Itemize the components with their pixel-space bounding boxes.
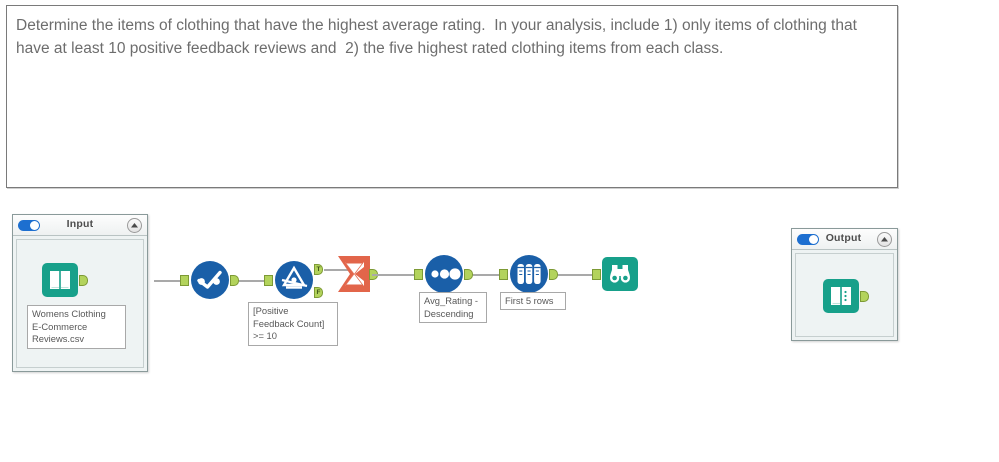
output-data-input-port[interactable] bbox=[860, 291, 869, 302]
output-container-title: Output bbox=[808, 232, 879, 244]
book-icon bbox=[822, 277, 860, 315]
node-sample[interactable] bbox=[499, 254, 559, 296]
browse-input-port[interactable] bbox=[592, 269, 601, 280]
filter-icon bbox=[274, 260, 314, 300]
prompt-textbox[interactable]: Determine the items of clothing that hav… bbox=[6, 5, 898, 188]
wire-summarize-to-sort bbox=[372, 274, 416, 276]
test-tubes-icon bbox=[509, 254, 549, 294]
select-input-port[interactable] bbox=[180, 275, 189, 286]
filter-input-port[interactable] bbox=[264, 275, 273, 286]
chevron-up-icon[interactable] bbox=[127, 218, 142, 233]
input-data-output-port[interactable] bbox=[79, 275, 88, 286]
wire-select-to-filter bbox=[239, 280, 266, 282]
wire-sample-to-browse bbox=[558, 274, 596, 276]
chevron-up-glyph bbox=[880, 236, 889, 243]
filter-false-label: F bbox=[315, 287, 322, 298]
wire-input-to-select bbox=[154, 280, 181, 282]
sort-annotation: Avg_Rating - Descending bbox=[419, 292, 487, 323]
sort-output-port[interactable] bbox=[464, 269, 473, 280]
node-browse[interactable] bbox=[592, 254, 644, 296]
sample-input-port[interactable] bbox=[499, 269, 508, 280]
select-output-port[interactable] bbox=[230, 275, 239, 286]
node-summarize[interactable] bbox=[324, 250, 386, 294]
filter-false-port[interactable]: F bbox=[314, 287, 323, 298]
sort-input-port[interactable] bbox=[414, 269, 423, 280]
input-container[interactable]: Input Womens Clothing E-Commerce Reviews… bbox=[12, 214, 148, 372]
sample-annotation: First 5 rows bbox=[500, 292, 566, 310]
node-output-data[interactable] bbox=[822, 277, 874, 315]
sort-dots-icon bbox=[424, 254, 464, 294]
workflow-canvas[interactable]: Input Womens Clothing E-Commerce Reviews… bbox=[0, 196, 999, 462]
sigma-icon bbox=[334, 254, 374, 294]
output-container[interactable]: Output bbox=[791, 228, 898, 341]
node-sort[interactable] bbox=[414, 254, 474, 296]
node-select[interactable] bbox=[180, 260, 240, 302]
select-icon bbox=[190, 260, 230, 300]
filter-annotation: [Positive Feedback Count] >= 10 bbox=[248, 302, 338, 346]
chevron-up-glyph bbox=[130, 222, 139, 229]
input-annotation: Womens Clothing E-Commerce Reviews.csv bbox=[27, 305, 126, 349]
book-icon bbox=[41, 261, 79, 299]
node-input-data[interactable] bbox=[41, 261, 93, 299]
output-container-header: Output bbox=[792, 229, 897, 250]
chevron-up-icon[interactable] bbox=[877, 232, 892, 247]
input-container-header: Input bbox=[13, 215, 147, 236]
wire-sort-to-sample bbox=[473, 274, 501, 276]
filter-true-label: T bbox=[315, 264, 322, 275]
filter-true-port[interactable]: T bbox=[314, 264, 323, 275]
prompt-text: Determine the items of clothing that hav… bbox=[16, 14, 889, 60]
binoculars-icon bbox=[601, 255, 639, 293]
sample-output-port[interactable] bbox=[549, 269, 558, 280]
